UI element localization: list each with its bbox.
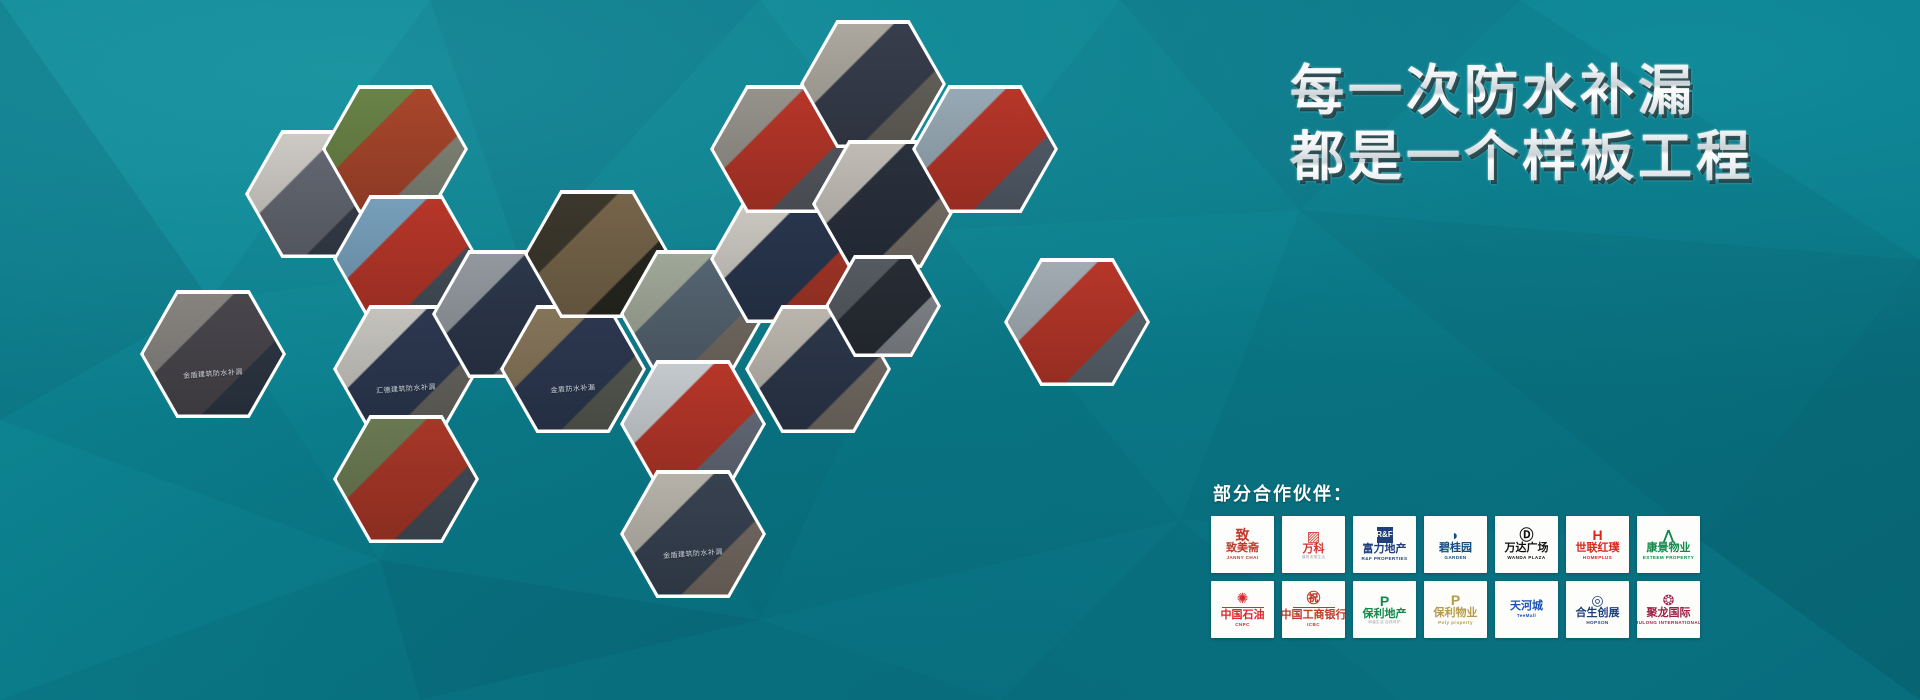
partner-tagline: 和谐生活 自然呵护: [1368, 620, 1400, 625]
photo-surface: [1008, 262, 1147, 383]
partner-name-cn: 天河城: [1510, 600, 1543, 612]
partner-name-cn: 中国石油: [1221, 609, 1265, 621]
partner-logo-WANDA PLAZA[interactable]: Ⓓ万达广场WANDA PLAZA: [1495, 516, 1558, 573]
partner-logo-R&F PROPERTIES[interactable]: R&F富力地产R&F PROPERTIES: [1353, 516, 1416, 573]
partner-logo-JANNY CHAI[interactable]: 致致美斋JANNY CHAI: [1211, 516, 1274, 573]
photo-watermark-text: 金盾建筑防水补漏: [663, 546, 724, 560]
partner-name-en: JULONG INTERNATIONAL: [1637, 620, 1700, 626]
headline-line-1: 每一次防水补漏: [1290, 58, 1754, 124]
partner-name-cn: 保利地产: [1363, 608, 1407, 620]
partner-logo-HOMEPLUS[interactable]: H世联红璞HOMEPLUS: [1566, 516, 1629, 573]
headline-line-2: 都是一个样板工程: [1290, 124, 1754, 190]
partner-name-en: HOPSON: [1586, 620, 1608, 626]
partner-logo-TeeMall[interactable]: 天河城TeeMall: [1495, 581, 1558, 638]
partner-name-cn: 合生创展: [1576, 607, 1620, 619]
partner-name-en: R&F PROPERTIES: [1362, 556, 1408, 562]
partner-logo-万科[interactable]: ▨万科建筑无限生活: [1282, 516, 1345, 573]
partner-name-en: ICBC: [1307, 622, 1320, 628]
partner-name-cn: 万科: [1303, 543, 1325, 555]
partner-name-cn: 保利物业: [1434, 607, 1478, 619]
promo-banner: 金盾建筑防水补漏汇德建筑防水补漏金盾防水补漏金盾建筑防水补漏 每一次防水补漏 都…: [0, 0, 1920, 700]
partner-name-en: CNPC: [1235, 622, 1250, 628]
photo-watermark-text: 金盾防水补漏: [550, 382, 596, 395]
partner-name-en: WANDA PLAZA: [1507, 555, 1545, 561]
partner-logo-CNPC[interactable]: ✺中国石油CNPC: [1211, 581, 1274, 638]
partner-name-en: GARDEN: [1444, 555, 1466, 561]
photo-watermark-text: 汇德建筑防水补漏: [376, 381, 437, 395]
partner-logo-ICBC[interactable]: ㊗中国工商银行ICBC: [1282, 581, 1345, 638]
partner-logo-grid: 致致美斋JANNY CHAI▨万科建筑无限生活R&F富力地产R&F PROPER…: [1211, 516, 1700, 638]
partner-name-cn: 致美斋: [1226, 542, 1259, 554]
partner-name-en: ESTEEM PROPERTY: [1643, 555, 1694, 561]
partner-name-cn: 世联红璞: [1576, 542, 1620, 554]
partner-logo-mark-icon: ㊗: [1307, 591, 1321, 605]
partner-logo-mark-icon: P: [1380, 594, 1389, 608]
photo-surface: [326, 89, 465, 210]
photo-surface: [829, 259, 938, 354]
partner-logo-mark-icon: ✺: [1237, 591, 1249, 605]
photo-rope-inspection: [1004, 258, 1150, 386]
partner-name-cn: 聚龙国际: [1647, 607, 1691, 619]
photo-surface: 金盾建筑防水补漏: [144, 294, 283, 415]
partner-logo-row: 致致美斋JANNY CHAI▨万科建筑无限生活R&F富力地产R&F PROPER…: [1211, 516, 1700, 573]
photo-watermark-text: 金盾建筑防水补漏: [183, 366, 244, 380]
partner-logo-HOPSON[interactable]: ◎合生创展HOPSON: [1566, 581, 1629, 638]
photo-gutter-pipes: 金盾建筑防水补漏: [620, 470, 766, 598]
partner-logo-mark-icon: R&F: [1377, 527, 1393, 543]
photo-surface: [337, 419, 476, 540]
partner-logo-JULONG INTERNATIONAL[interactable]: ❂聚龙国际JULONG INTERNATIONAL: [1637, 581, 1700, 638]
partner-name-en: JANNY CHAI: [1227, 555, 1259, 561]
partner-name-cn: 碧桂园: [1439, 542, 1472, 554]
partner-name-cn: 富力地产: [1363, 543, 1407, 555]
partner-name-cn: 康景物业: [1647, 542, 1691, 554]
partner-logo-Poly property[interactable]: P保利物业Poly property: [1424, 581, 1487, 638]
partner-logo-GARDEN[interactable]: ◗碧桂园GARDEN: [1424, 516, 1487, 573]
photo-surface: [916, 89, 1055, 210]
partners-section: 部分合作伙伴： 致致美斋JANNY CHAI▨万科建筑无限生活R&F富力地产R&…: [1211, 480, 1700, 646]
partner-logo-保利地产[interactable]: P保利地产和谐生活 自然呵护: [1353, 581, 1416, 638]
partners-label: 部分合作伙伴：: [1213, 480, 1700, 506]
headline: 每一次防水补漏 都是一个样板工程: [1290, 58, 1754, 190]
photo-surface: 金盾建筑防水补漏: [624, 474, 763, 595]
photo-balcony-repair: [333, 415, 479, 543]
photo-surface: 金盾防水补漏: [504, 309, 643, 430]
partner-logo-row: ✺中国石油CNPC㊗中国工商银行ICBCP保利地产和谐生活 自然呵护P保利物业P…: [1211, 581, 1700, 638]
partner-name-en: TeeMall: [1517, 613, 1536, 619]
partner-name-cn: 中国工商银行: [1282, 609, 1345, 621]
photo-doorway-inspection: 金盾建筑防水补漏: [140, 290, 286, 418]
partner-tagline: 建筑无限生活: [1302, 555, 1325, 560]
photo-surface: [804, 24, 943, 145]
partner-logo-ESTEEM PROPERTY[interactable]: ⋀康景物业ESTEEM PROPERTY: [1637, 516, 1700, 573]
photo-ladder-work: [620, 360, 766, 488]
partner-name-cn: 万达广场: [1505, 542, 1549, 554]
partner-logo-mark-icon: ▨: [1307, 529, 1320, 543]
partner-name-en: HOMEPLUS: [1583, 555, 1612, 561]
photo-surface: [624, 364, 763, 485]
partner-name-en: Poly property: [1438, 620, 1473, 626]
